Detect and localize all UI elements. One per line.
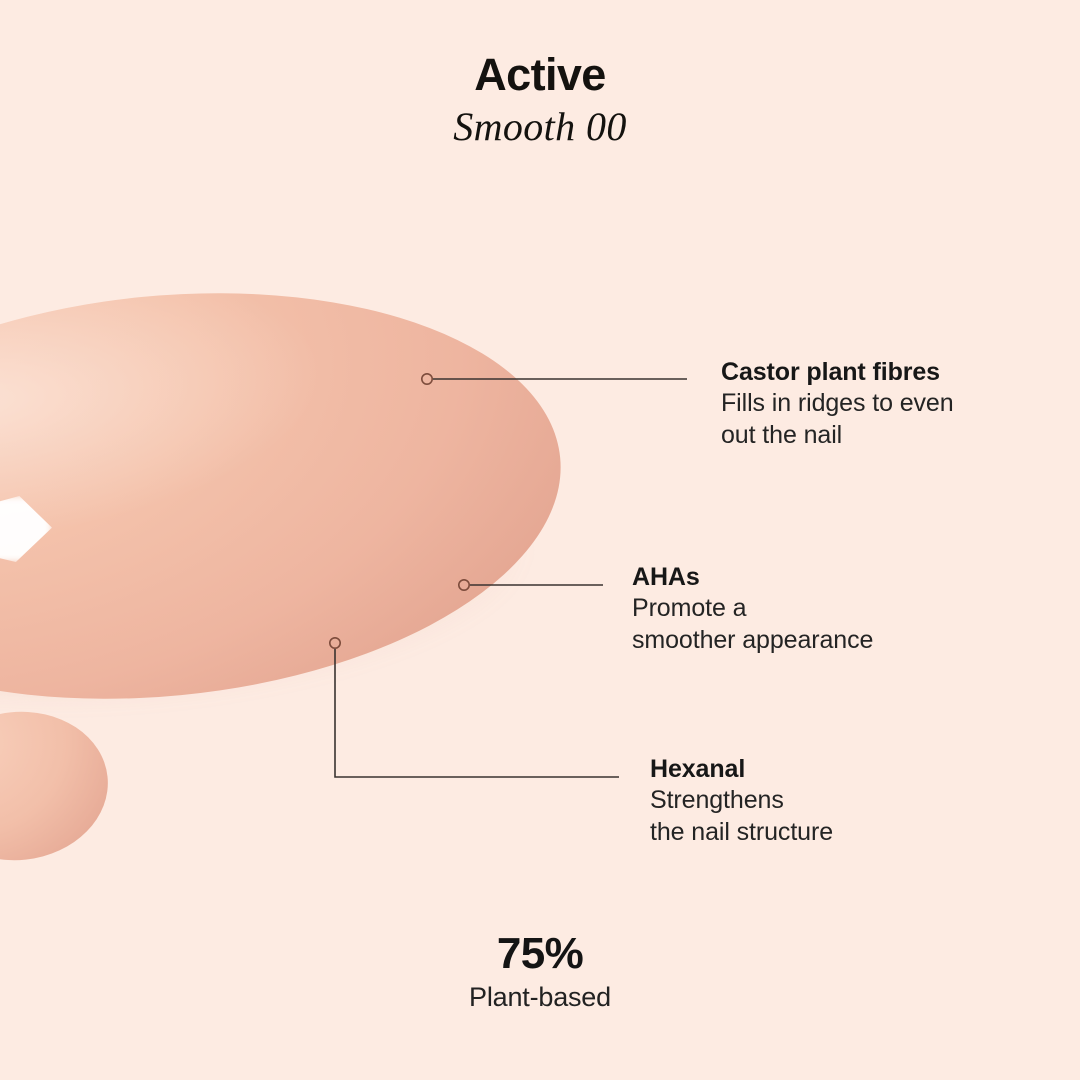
stat-label: Plant-based: [0, 981, 1080, 1013]
callout-body-line: smoother appearance: [632, 625, 873, 657]
leader-line-castor: [422, 374, 687, 384]
leader-line-ahas: [459, 580, 603, 590]
callout-body-line: Promote a: [632, 593, 873, 625]
callout-body: Promote a smoother appearance: [632, 593, 873, 656]
leader-dot-hexanal: [330, 638, 340, 648]
callout-body-line: Strengthens: [650, 785, 833, 817]
callout-body-line: the nail structure: [650, 817, 833, 849]
callout-ahas: AHAs Promote a smoother appearance: [632, 561, 873, 656]
leader-lines: [0, 0, 1080, 1080]
callout-title: Castor plant fibres: [721, 356, 954, 388]
callout-body-line: out the nail: [721, 420, 954, 452]
callout-hexanal: Hexanal Strengthens the nail structure: [650, 753, 833, 848]
stat-value: 75%: [0, 931, 1080, 978]
leader-line-hexanal: [330, 638, 619, 777]
plant-based-stat: 75% Plant-based: [0, 931, 1080, 1013]
callout-body: Strengthens the nail structure: [650, 785, 833, 848]
callout-title: AHAs: [632, 561, 873, 593]
leader-dot-castor: [422, 374, 432, 384]
leader-dot-ahas: [459, 580, 469, 590]
callout-body: Fills in ridges to even out the nail: [721, 388, 954, 451]
callout-title: Hexanal: [650, 753, 833, 785]
product-ingredient-infographic: Active Smooth 00 Castor plant fibres Fil…: [0, 0, 1080, 1080]
callout-body-line: Fills in ridges to even: [721, 388, 954, 420]
callout-castor-plant-fibres: Castor plant fibres Fills in ridges to e…: [721, 356, 954, 451]
